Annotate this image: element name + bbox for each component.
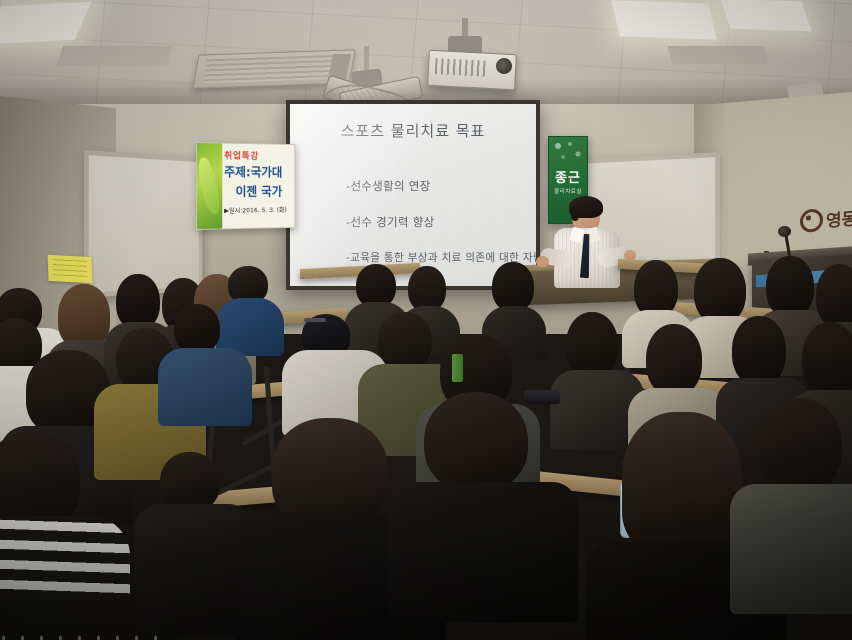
person-torso: [158, 348, 252, 426]
person-head: [160, 452, 220, 512]
person-head: [622, 412, 742, 554]
person-head: [694, 258, 746, 324]
slide-bullet: -선수생활의 연장: [346, 178, 526, 194]
green-bottle: [452, 354, 463, 382]
university-wall-sign: 영동대: [800, 203, 852, 234]
person-head: [732, 316, 786, 386]
slide-title: 스포츠 물리치료 목표: [290, 120, 536, 141]
banner-headline-2: 이젠 국가: [236, 181, 283, 200]
sponsor-name: 종근: [549, 167, 587, 186]
event-banner-left: 취업특강 주제:국가대 이젠 국가 ▶일시:2016. 5. 3. (화): [196, 142, 295, 230]
banner-kicker: 취업특강: [224, 149, 259, 162]
person-torso: [388, 482, 578, 622]
presenter-hand: [536, 256, 549, 267]
person-head: [756, 398, 842, 494]
banner-leaf-graphic: [197, 143, 222, 229]
university-logo-icon: [800, 208, 823, 233]
person-head: [424, 392, 528, 492]
person-head: [0, 432, 80, 528]
person-head: [566, 312, 618, 378]
cap-logo-icon: [304, 318, 326, 322]
projection-screen: 스포츠 물리치료 목표 -선수생활의 연장 -선수 경기력 향상 -교육을 통한…: [290, 104, 536, 286]
banner-headline-1: 주제:국가대: [224, 161, 282, 180]
person-head: [802, 322, 852, 398]
person-torso: [730, 484, 852, 614]
person-head: [492, 262, 534, 312]
person-head: [378, 312, 432, 370]
person-head: [174, 304, 220, 354]
ceiling-light-panel: [611, 0, 717, 39]
ceiling-light-panel: [721, 0, 812, 31]
person-head: [816, 264, 852, 328]
presenter-hair: [569, 196, 603, 218]
university-name: 영동대: [826, 203, 852, 232]
lecture-hall-photo: 스포츠 물리치료 목표 -선수생활의 연장 -선수 경기력 향상 -교육을 통한…: [0, 0, 852, 640]
banner-dot-pattern: [552, 140, 584, 164]
person-head: [646, 324, 702, 396]
smartphone-icon: [524, 390, 560, 404]
audience-area: [0, 270, 852, 640]
person-head: [766, 256, 814, 318]
person-head: [58, 284, 110, 348]
banner-date: ▶일시:2016. 5. 3. (화): [224, 204, 287, 214]
slide-bullet: -선수 경기력 향상: [346, 214, 526, 230]
slide-bullet: -교육을 통한 부상과 치료 의존에 대한 자립: [346, 250, 526, 265]
microphone-icon: [778, 226, 791, 237]
ceiling-panel: [667, 46, 768, 64]
projector-lens: [496, 58, 512, 74]
ceiling-panel: [57, 46, 173, 66]
person-head: [272, 418, 388, 526]
